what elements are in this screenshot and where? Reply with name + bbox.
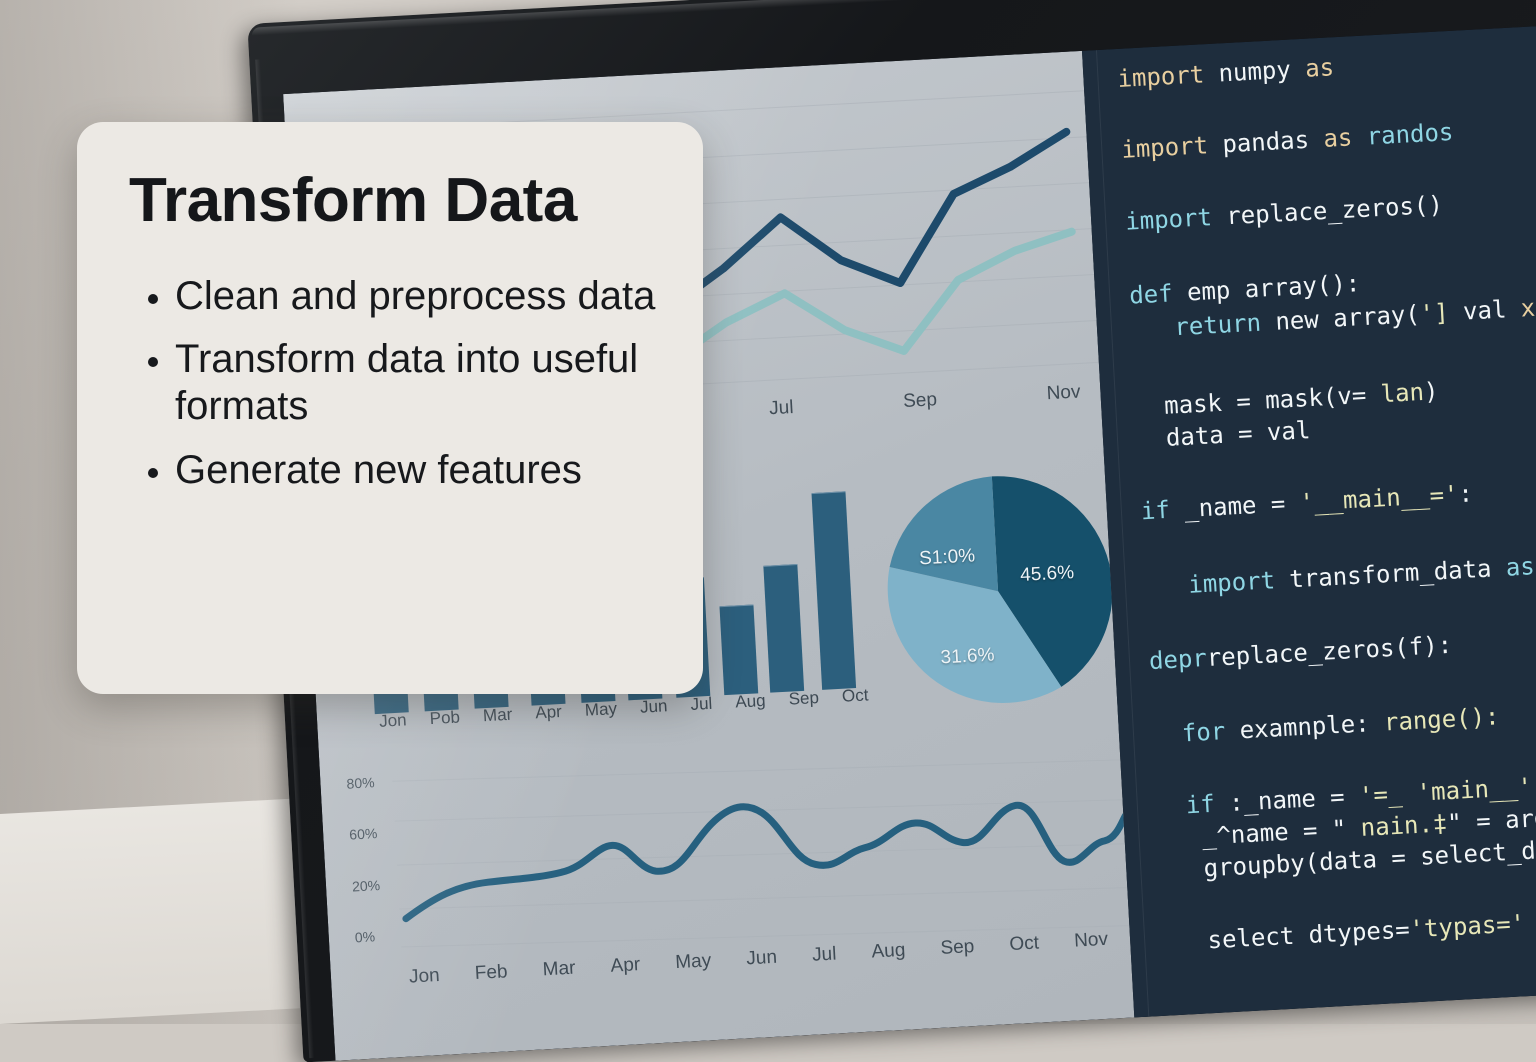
- code-line: deprreplace_zeros(f):: [1148, 626, 1536, 673]
- xtick: Jon: [409, 965, 441, 989]
- card-bullet-list: Clean and preprocess data Transform data…: [129, 273, 663, 494]
- bar-9: [811, 491, 856, 690]
- xtick: Aug: [735, 691, 766, 713]
- xtick: Nov: [1046, 381, 1081, 405]
- code-line: select dtypes='typas=': [1164, 908, 1536, 955]
- xtick: Jun: [640, 696, 668, 717]
- code-editor-panel[interactable]: import numpy as import pandas as randos …: [1082, 26, 1536, 1017]
- overlay-card: Transform Data Clean and preprocess data…: [77, 122, 703, 694]
- xtick: May: [675, 950, 712, 974]
- code-line: import pandas as randos: [1121, 115, 1536, 162]
- code-lines: import numpy as import pandas as randos …: [1116, 34, 1536, 955]
- code-line: import replace_zeros(): [1125, 187, 1536, 234]
- xtick: Feb: [474, 961, 508, 985]
- xtick: Pob: [429, 707, 460, 729]
- card-bullet-item: Generate new features: [175, 447, 663, 494]
- xtick: Oct: [1009, 933, 1040, 957]
- ytick: 20%: [352, 877, 381, 894]
- pie-label-1: 31.6%: [940, 645, 995, 670]
- xtick: Aug: [871, 940, 906, 964]
- xtick: Jul: [812, 943, 837, 966]
- card-bullet-item: Clean and preprocess data: [175, 273, 663, 320]
- chart-piechart[interactable]: 45.6% 31.6% S1:0%: [866, 460, 1129, 723]
- gridlines: [392, 742, 1129, 965]
- ytick: 0%: [354, 928, 383, 945]
- xtick: May: [584, 699, 617, 721]
- desk-surface: [0, 798, 300, 1024]
- xtick: Nov: [1074, 929, 1109, 953]
- ytick: 60%: [349, 825, 378, 842]
- code-line: import transform_data as a (: [1144, 552, 1536, 599]
- xtick: Jun: [746, 947, 778, 971]
- xtick: Oct: [841, 685, 868, 706]
- bar-7: [719, 604, 758, 695]
- pie-label-0: 45.6%: [1020, 562, 1075, 587]
- xtick: Jul: [769, 397, 794, 420]
- xtick: Jul: [690, 694, 713, 715]
- code-line: if _name = '__main__=':: [1140, 477, 1536, 524]
- xtick: Mar: [542, 958, 576, 982]
- xtick: Sep: [788, 688, 819, 710]
- code-line: import numpy as: [1117, 44, 1536, 91]
- bar-8: [763, 564, 804, 693]
- trend-line: [401, 786, 1129, 919]
- xtick: Apr: [610, 954, 641, 978]
- card-title: Transform Data: [129, 168, 663, 233]
- ytick: 80%: [346, 774, 375, 791]
- chart-linechart-bottom[interactable]: 80% 60% 20% 0% Jon: [340, 730, 1134, 1052]
- xtick: Jon: [379, 710, 407, 731]
- xtick: Apr: [535, 702, 563, 723]
- xtick: Mar: [482, 705, 512, 727]
- pie-label-2: S1:0%: [919, 545, 976, 570]
- code-line: for examnple: range():: [1152, 700, 1536, 747]
- piechart-svg: [866, 460, 1129, 723]
- xtick: Sep: [903, 389, 938, 413]
- card-bullet-item: Transform data into useful formats: [175, 336, 663, 430]
- xtick: Sep: [940, 936, 975, 960]
